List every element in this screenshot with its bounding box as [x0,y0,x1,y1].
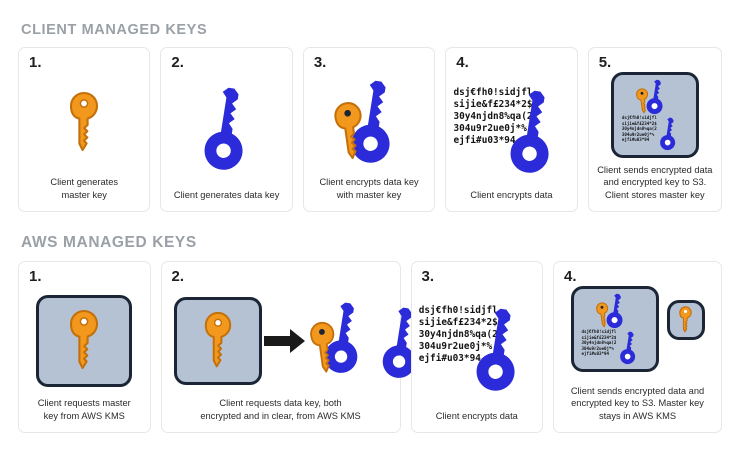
kms-box-small [667,300,705,340]
card-artwork-kms-box [19,284,150,397]
blue-key-icon [505,89,561,175]
card-artwork-s3-box: dsj€fh0!sidjfl sijie&f£234*2$ 30y4njdn8%… [589,70,721,164]
card-caption: Client generates data key [161,189,291,211]
card-caption: Client requests data key, both encrypted… [162,397,400,432]
kms-box [36,295,132,387]
card-artwork-encrypted-data-key [304,70,434,176]
key-pair-stack [332,79,406,167]
card-artwork-s3-and-kms: dsj€fh0!sidjfl sijie&f£234*2$ 30y4njdn8%… [554,284,721,385]
card-number: 3. [412,262,543,284]
card-row-client-managed: 1. Client generates master key 2. [18,47,722,212]
card-caption: Client sends encrypted data and encrypte… [554,385,721,432]
card-cmk-3[interactable]: 3. [303,47,435,212]
cipher-text-mini: dsj€fh0!sidjfl sijie&f£234*2$ 30y4njdn8%… [622,115,657,143]
blue-key-icon [199,86,255,172]
card-number: 5. [589,48,721,70]
s3-bucket-box: dsj€fh0!sidjfl sijie&f£234*2$ 30y4njdn8%… [571,286,659,372]
orange-key-icon [202,311,234,371]
orange-key-icon [308,321,340,376]
s3-bucket-box: dsj€fh0!sidjfl sijie&f£234*2$ 30y4njdn8%… [611,72,699,158]
card-cmk-2[interactable]: 2. Client generates data key [160,47,292,212]
orange-key-icon [634,88,652,115]
card-caption: Client encrypts data key with master key [304,176,434,211]
kms-box [174,297,262,385]
cipher-key-stack: dsj€fh0!sidjfl sijie&f£234*2$ 30y4njdn8%… [417,301,537,393]
section-client-managed-keys: CLIENT MANAGED KEYS 1. Client generates … [18,22,722,212]
s3-contents: dsj€fh0!sidjfl sijie&f£234*2$ 30y4njdn8%… [617,77,693,153]
section-aws-managed-keys: AWS MANAGED KEYS 1. Client reques [18,234,722,433]
orange-key-icon [67,309,101,373]
card-number: 2. [162,262,400,284]
orange-key-icon [594,302,612,329]
card-caption: Client encrypts data [412,410,543,432]
s3-contents: dsj€fh0!sidjfl sijie&f£234*2$ 30y4njdn8%… [577,291,653,367]
card-caption: Client requests master key from AWS KMS [19,397,150,432]
orange-key-icon [332,101,368,163]
card-amk-1[interactable]: 1. Client requests master key from AWS K… [18,261,151,433]
card-number: 4. [446,48,576,70]
card-artwork-kms-arrow-keys [162,284,400,397]
section-title-aws-managed: AWS MANAGED KEYS [21,234,722,252]
orange-key-icon [678,306,693,334]
blue-key-icon [471,307,527,393]
card-number: 2. [161,48,291,70]
cipher-key-stack: dsj€fh0!sidjfl sijie&f£234*2$ 30y4njdn8%… [451,83,571,175]
orange-key-icon [67,91,101,155]
blue-key-icon [617,331,641,365]
card-artwork-orange-key [19,70,149,176]
card-caption: Client sends encrypted data and encrypte… [589,164,721,211]
arrow-right-icon [264,328,306,354]
card-cmk-5[interactable]: 5. [588,47,722,212]
card-artwork-cipher-with-key: dsj€fh0!sidjfl sijie&f£234*2$ 30y4njdn8%… [412,284,543,410]
card-cmk-1[interactable]: 1. Client generates master key [18,47,150,212]
card-artwork-cipher-with-key: dsj€fh0!sidjfl sijie&f£234*2$ 30y4njdn8%… [446,70,576,189]
card-number: 1. [19,262,150,284]
card-row-aws-managed: 1. Client requests master key from AWS K… [18,261,722,433]
card-amk-3[interactable]: 3. dsj€fh0!sidjfl sijie&f£234*2$ 30y4njd… [411,261,544,433]
card-cmk-4[interactable]: 4. dsj€fh0!sidjfl sijie&f£234*2$ 30y4njd… [445,47,577,212]
card-amk-4[interactable]: 4. [553,261,722,433]
card-number: 4. [554,262,721,284]
blue-key-icon [657,117,681,151]
card-caption: Client generates master key [19,176,149,211]
card-caption: Client encrypts data [446,189,576,211]
card-number: 3. [304,48,434,70]
encrypted-key-stack [308,297,364,385]
card-artwork-blue-key [161,70,291,189]
card-amk-2[interactable]: 2. [161,261,401,433]
diagram-page: CLIENT MANAGED KEYS 1. Client generates … [0,0,740,476]
section-title-client-managed: CLIENT MANAGED KEYS [21,22,722,38]
cipher-text-mini: dsj€fh0!sidjfl sijie&f£234*2$ 30y4njdn8%… [582,329,617,357]
card-number: 1. [19,48,149,70]
